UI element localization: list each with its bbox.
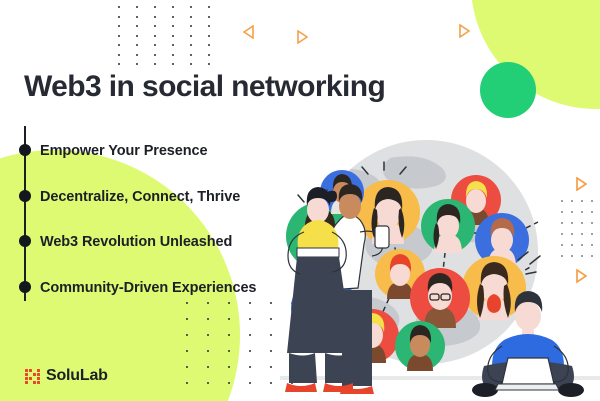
- grid-dot: [172, 54, 174, 56]
- triangle-accent-top-left: [243, 25, 255, 39]
- grid-dot: [154, 35, 156, 37]
- grid-dot: [208, 16, 210, 18]
- grid-dot: [136, 25, 138, 27]
- list-item-label: Decentralize, Connect, Thrive: [40, 189, 240, 205]
- timeline-bullet-icon: [19, 281, 31, 293]
- grid-dot: [249, 350, 251, 352]
- grid-dot: [249, 334, 251, 336]
- poster-canvas: Web3 in social networking Empower Your P…: [0, 0, 600, 401]
- grid-dot: [190, 54, 192, 56]
- grid-dot: [172, 63, 174, 65]
- grid-dot: [208, 54, 210, 56]
- grid-dot: [270, 350, 272, 352]
- timeline-bullet-icon: [19, 144, 31, 156]
- grid-dot: [208, 6, 210, 8]
- logo-pixel: [33, 377, 36, 380]
- grid-dot: [154, 6, 156, 8]
- grid-dot: [118, 54, 120, 56]
- logo-pixel: [25, 373, 28, 376]
- logo-pixel: [29, 373, 32, 376]
- grid-dot: [249, 382, 251, 384]
- avatar-node-red-center: [410, 268, 470, 328]
- timeline-bullet-icon: [19, 235, 31, 247]
- grid-dot: [136, 16, 138, 18]
- grid-dot: [172, 16, 174, 18]
- grid-dot: [136, 6, 138, 8]
- timeline-bullet-icon: [19, 190, 31, 202]
- grid-dot: [270, 382, 272, 384]
- grid-dot: [208, 25, 210, 27]
- logo-pixel: [29, 369, 32, 372]
- avatar-node-green-bottom: [395, 321, 445, 371]
- triangle-accent-top-mid: [296, 30, 308, 44]
- logo-pixel: [29, 377, 32, 380]
- grid-dot: [136, 35, 138, 37]
- grid-dot: [249, 302, 251, 304]
- logo-pixel: [37, 369, 40, 372]
- logo-pixel: [37, 377, 40, 380]
- grid-dot: [249, 366, 251, 368]
- grid-dot: [270, 318, 272, 320]
- grid-dot: [270, 302, 272, 304]
- brand-logo[interactable]: SoluLab: [25, 367, 108, 385]
- logo-pixel: [25, 381, 28, 384]
- grid-dot: [249, 318, 251, 320]
- logo-pixel: [37, 381, 40, 384]
- lime-circle-bottom-left: [0, 150, 240, 401]
- grid-dot: [172, 6, 174, 8]
- triangle-accent-top-right: [458, 24, 470, 38]
- grid-dot: [190, 25, 192, 27]
- grid-dot: [154, 63, 156, 65]
- logo-pixel: [37, 373, 40, 376]
- logo-pixel: [33, 369, 36, 372]
- grid-dot: [190, 16, 192, 18]
- brand-name: SoluLab: [46, 367, 108, 385]
- grid-dot: [190, 6, 192, 8]
- grid-dot: [208, 44, 210, 46]
- grid-dot: [118, 6, 120, 8]
- global-social-network-illustration: [280, 140, 600, 401]
- grid-dot: [270, 334, 272, 336]
- green-circle-accent: [480, 62, 536, 118]
- grid-dot: [270, 366, 272, 368]
- list-item-label: Community-Driven Experiences: [40, 280, 256, 296]
- page-title: Web3 in social networking: [24, 70, 385, 104]
- grid-dot: [208, 35, 210, 37]
- grid-dot: [190, 44, 192, 46]
- grid-dot: [172, 25, 174, 27]
- grid-dot: [154, 54, 156, 56]
- grid-dot: [118, 35, 120, 37]
- grid-dot: [136, 63, 138, 65]
- logo-pixel: [33, 381, 36, 384]
- avatar-node-green-center: [421, 199, 475, 253]
- logo-pixel: [25, 377, 28, 380]
- grid-dot: [118, 63, 120, 65]
- logo-pixel: [33, 373, 36, 376]
- list-item-label: Web3 Revolution Unleashed: [40, 234, 232, 250]
- grid-dot: [136, 44, 138, 46]
- list-item-label: Empower Your Presence: [40, 143, 207, 159]
- grid-dot: [172, 35, 174, 37]
- grid-dot: [154, 25, 156, 27]
- logo-pixel: [25, 369, 28, 372]
- grid-dot: [190, 63, 192, 65]
- grid-dot: [172, 44, 174, 46]
- grid-dot: [154, 16, 156, 18]
- grid-dot: [118, 16, 120, 18]
- logo-pixel: [29, 381, 32, 384]
- grid-dot: [154, 44, 156, 46]
- grid-dot: [190, 35, 192, 37]
- grid-dot: [118, 44, 120, 46]
- grid-dot: [208, 63, 210, 65]
- solulab-logo-mark-icon: [25, 369, 40, 384]
- grid-dot: [118, 25, 120, 27]
- grid-dot: [136, 54, 138, 56]
